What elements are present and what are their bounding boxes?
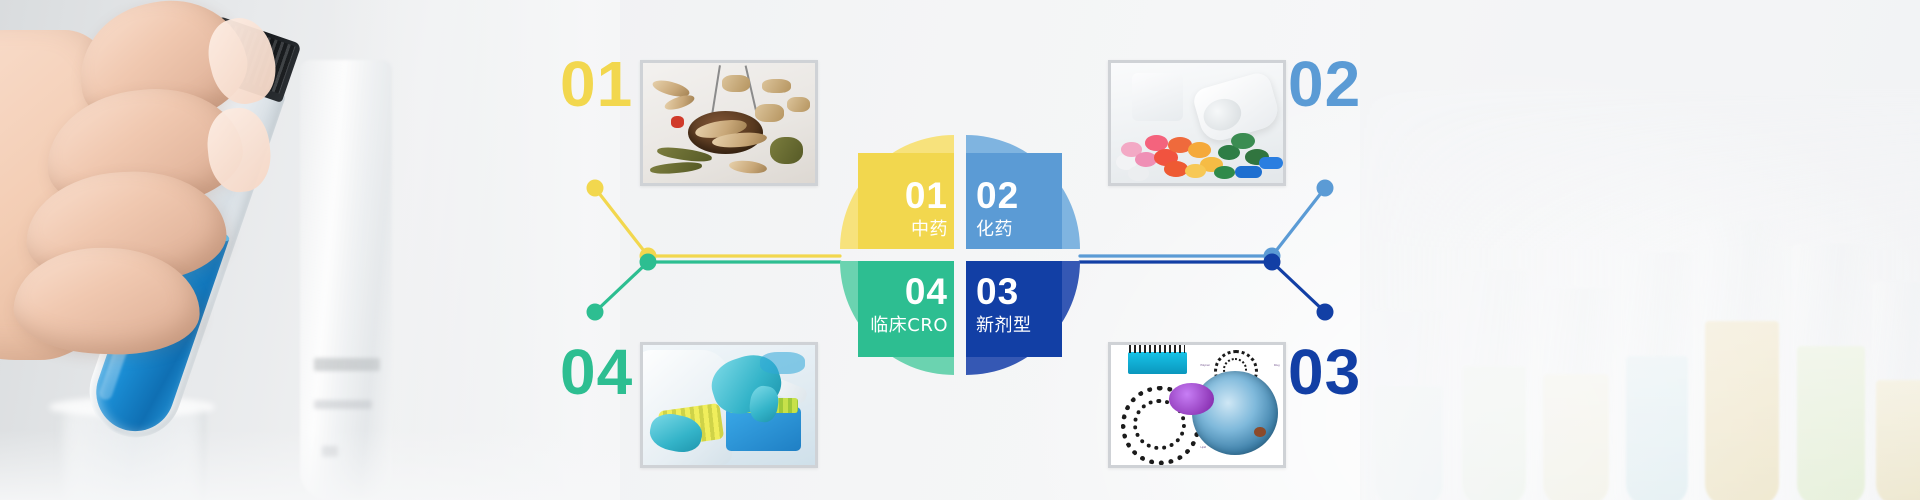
lab-hand-photo xyxy=(0,0,620,500)
outer-number-03: 03 xyxy=(1288,340,1361,404)
thumbnail-pills-photo[interactable] xyxy=(1108,60,1286,186)
quadrant-number: 04 xyxy=(870,273,948,310)
quadrant-tcm[interactable]: 01 中药 xyxy=(840,135,954,249)
quadrant-number: 02 xyxy=(976,177,1019,214)
quadrant-number: 01 xyxy=(905,177,948,214)
quadrant-label: 新剂型 xyxy=(976,317,1032,335)
quadrant-label: 化药 xyxy=(976,221,1019,239)
outer-number-04: 04 xyxy=(560,340,633,404)
quadrant-number: 03 xyxy=(976,273,1032,310)
banner-stage: Drug Polymer Lipid 01 中药 02 化药 xyxy=(0,0,1920,500)
background-tube-rack-photo xyxy=(1360,0,1920,500)
thumbnail-herbs-photo[interactable] xyxy=(640,60,818,186)
quadrant-clinical-cro[interactable]: 04 临床CRO xyxy=(840,261,954,375)
outer-number-01: 01 xyxy=(560,52,633,116)
photo-fade-overlay xyxy=(1360,0,1920,250)
quadrant-label: 临床CRO xyxy=(870,317,948,335)
hand xyxy=(0,0,360,410)
photo-fade-overlay xyxy=(0,430,620,500)
quadrant-wheel: 01 中药 02 化药 04 临床CRO 03 新剂型 xyxy=(840,135,1080,375)
quadrant-chemical-drug[interactable]: 02 化药 xyxy=(966,135,1080,249)
thumbnail-liposome-diagram[interactable]: Drug Polymer Lipid xyxy=(1108,342,1286,468)
quadrant-new-formulation[interactable]: 03 新剂型 xyxy=(966,261,1080,375)
quadrant-label: 中药 xyxy=(905,221,948,239)
thumbnail-lab-photo[interactable] xyxy=(640,342,818,468)
outer-number-02: 02 xyxy=(1288,52,1361,116)
